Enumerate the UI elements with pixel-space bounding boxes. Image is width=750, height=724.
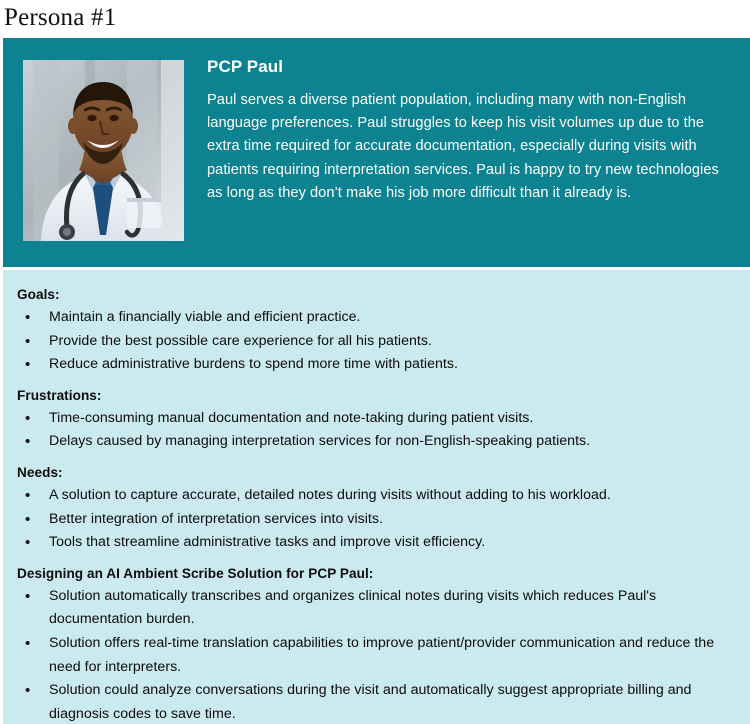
persona-photo: [23, 60, 184, 241]
persona-header-band: PCP Paul Paul serves a diverse patient p…: [3, 38, 750, 267]
list-item: Tools that streamline administrative tas…: [17, 531, 736, 555]
section-frustrations: Frustrations: Time-consuming manual docu…: [17, 385, 736, 454]
section-heading: Designing an AI Ambient Scribe Solution …: [17, 563, 736, 584]
persona-description: Paul serves a diverse patient population…: [207, 89, 737, 205]
section-heading: Frustrations:: [17, 385, 736, 406]
bullet-list: A solution to capture accurate, detailed…: [17, 484, 736, 555]
section-solution-design: Designing an AI Ambient Scribe Solution …: [17, 563, 736, 724]
list-item: Solution could analyze conversations dur…: [17, 679, 736, 724]
list-item: Solution automatically transcribes and o…: [17, 585, 736, 632]
list-item: Maintain a financially viable and effici…: [17, 306, 736, 330]
list-item: Solution offers real-time translation ca…: [17, 632, 736, 679]
bullet-list: Solution automatically transcribes and o…: [17, 585, 736, 724]
section-heading: Goals:: [17, 284, 736, 305]
list-item: Delays caused by managing interpretation…: [17, 430, 736, 454]
persona-text-block: PCP Paul Paul serves a diverse patient p…: [207, 56, 737, 205]
list-item: A solution to capture accurate, detailed…: [17, 484, 736, 508]
list-item: Better integration of interpretation ser…: [17, 508, 736, 532]
doctor-portrait-icon: [23, 60, 184, 241]
section-goals: Goals: Maintain a financially viable and…: [17, 284, 736, 377]
list-item: Reduce administrative burdens to spend m…: [17, 353, 736, 377]
bullet-list: Time-consuming manual documentation and …: [17, 407, 736, 454]
bullet-list: Maintain a financially viable and effici…: [17, 306, 736, 377]
persona-name: PCP Paul: [207, 56, 737, 78]
section-needs: Needs: A solution to capture accurate, d…: [17, 462, 736, 555]
persona-page: Persona #1: [0, 0, 750, 724]
persona-details-panel: Goals: Maintain a financially viable and…: [3, 270, 750, 724]
list-item: Provide the best possible care experienc…: [17, 330, 736, 354]
page-title: Persona #1: [4, 2, 116, 34]
section-heading: Needs:: [17, 462, 736, 483]
list-item: Time-consuming manual documentation and …: [17, 407, 736, 431]
